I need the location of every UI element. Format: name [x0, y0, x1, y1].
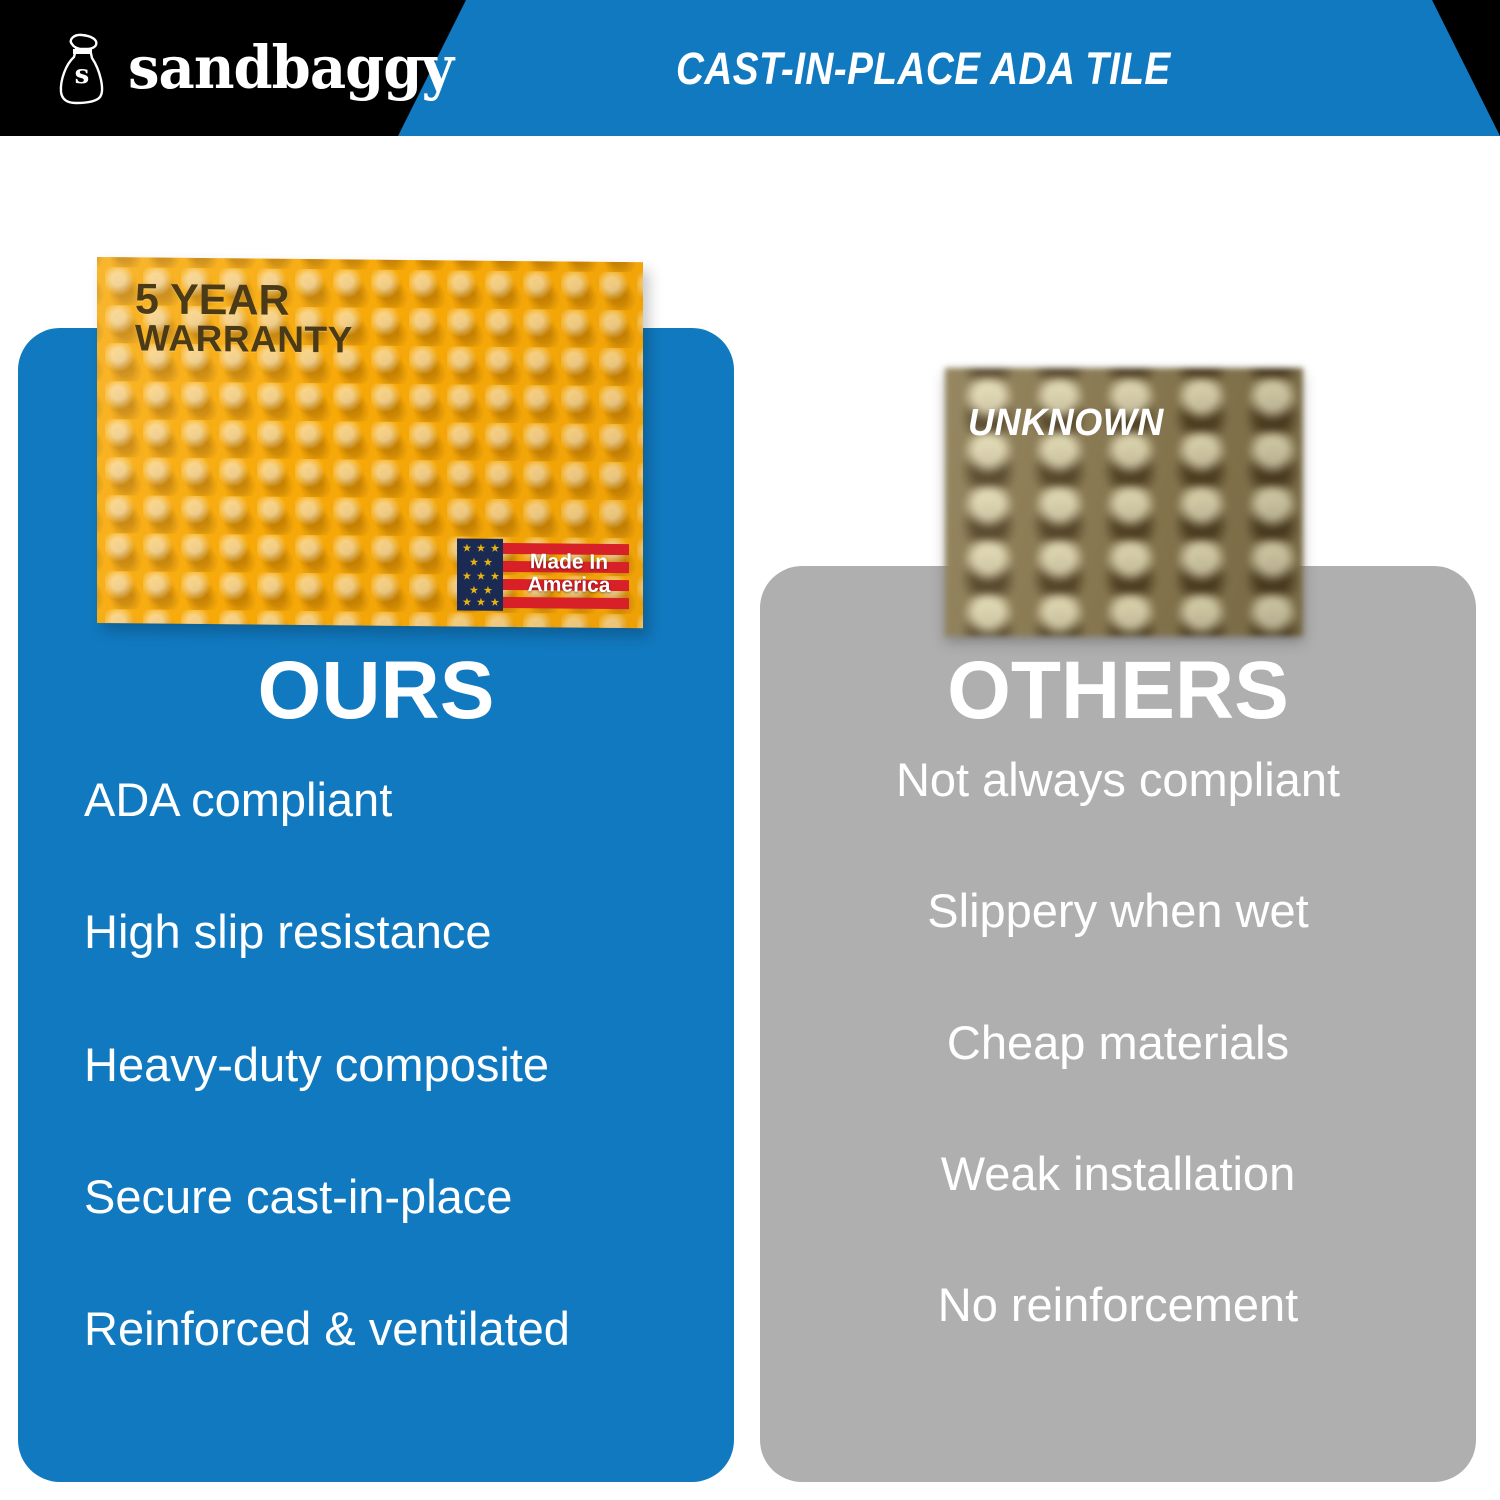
page-header: s sandbaggy CAST-IN-PLACE ADA TILE	[0, 0, 1500, 136]
ours-tile-image: 5 YEAR WARRANTY ★ ★ ★ ★ ★ ★ ★ ★ ★ ★ ★ ★ …	[97, 257, 643, 628]
list-item: Not always compliant	[760, 755, 1476, 804]
flag-star: ★	[476, 545, 484, 553]
flag-star: ★	[462, 573, 470, 581]
svg-text:s: s	[75, 60, 90, 90]
made-in-america-badge: ★ ★ ★ ★ ★ ★ ★ ★ ★ ★ ★ ★ ★ Made In Americ…	[457, 538, 629, 612]
flag-star: ★	[462, 545, 470, 553]
ours-heading: OURS	[18, 650, 734, 732]
mia-line2: America	[528, 573, 611, 597]
others-heading: OTHERS	[760, 650, 1476, 732]
list-item: No reinforcement	[760, 1280, 1476, 1329]
brand-name: sandbaggy	[128, 38, 453, 97]
brand-logo[interactable]: s sandbaggy	[52, 30, 453, 106]
warranty-badge: 5 YEAR WARRANTY	[135, 279, 353, 357]
page-title: CAST-IN-PLACE ADA TILE	[676, 43, 1171, 95]
flag-star: ★	[469, 559, 477, 567]
list-item: Slippery when wet	[760, 886, 1476, 935]
flag-star: ★	[490, 599, 498, 607]
others-feature-list: Not always compliant Slippery when wet C…	[760, 755, 1476, 1412]
sandbag-icon: s	[52, 30, 114, 106]
mia-line1: Made In	[530, 550, 608, 574]
flag-star: ★	[462, 599, 470, 607]
flag-star: ★	[490, 545, 498, 553]
flag-star: ★	[483, 587, 491, 595]
list-item: Weak installation	[760, 1149, 1476, 1198]
made-in-america-text: Made In America	[509, 551, 629, 597]
flag-canton: ★ ★ ★ ★ ★ ★ ★ ★ ★ ★ ★ ★ ★	[457, 538, 503, 610]
warranty-word: WARRANTY	[135, 320, 353, 357]
flag-star: ★	[469, 587, 477, 595]
list-item: Cheap materials	[760, 1018, 1476, 1067]
warranty-years: 5 YEAR	[135, 279, 353, 322]
flag-star: ★	[476, 599, 484, 607]
flag-star: ★	[476, 573, 484, 581]
flag-star: ★	[483, 559, 491, 567]
unknown-label: UNKNOWN	[968, 402, 1164, 445]
flag-star: ★	[490, 573, 498, 581]
